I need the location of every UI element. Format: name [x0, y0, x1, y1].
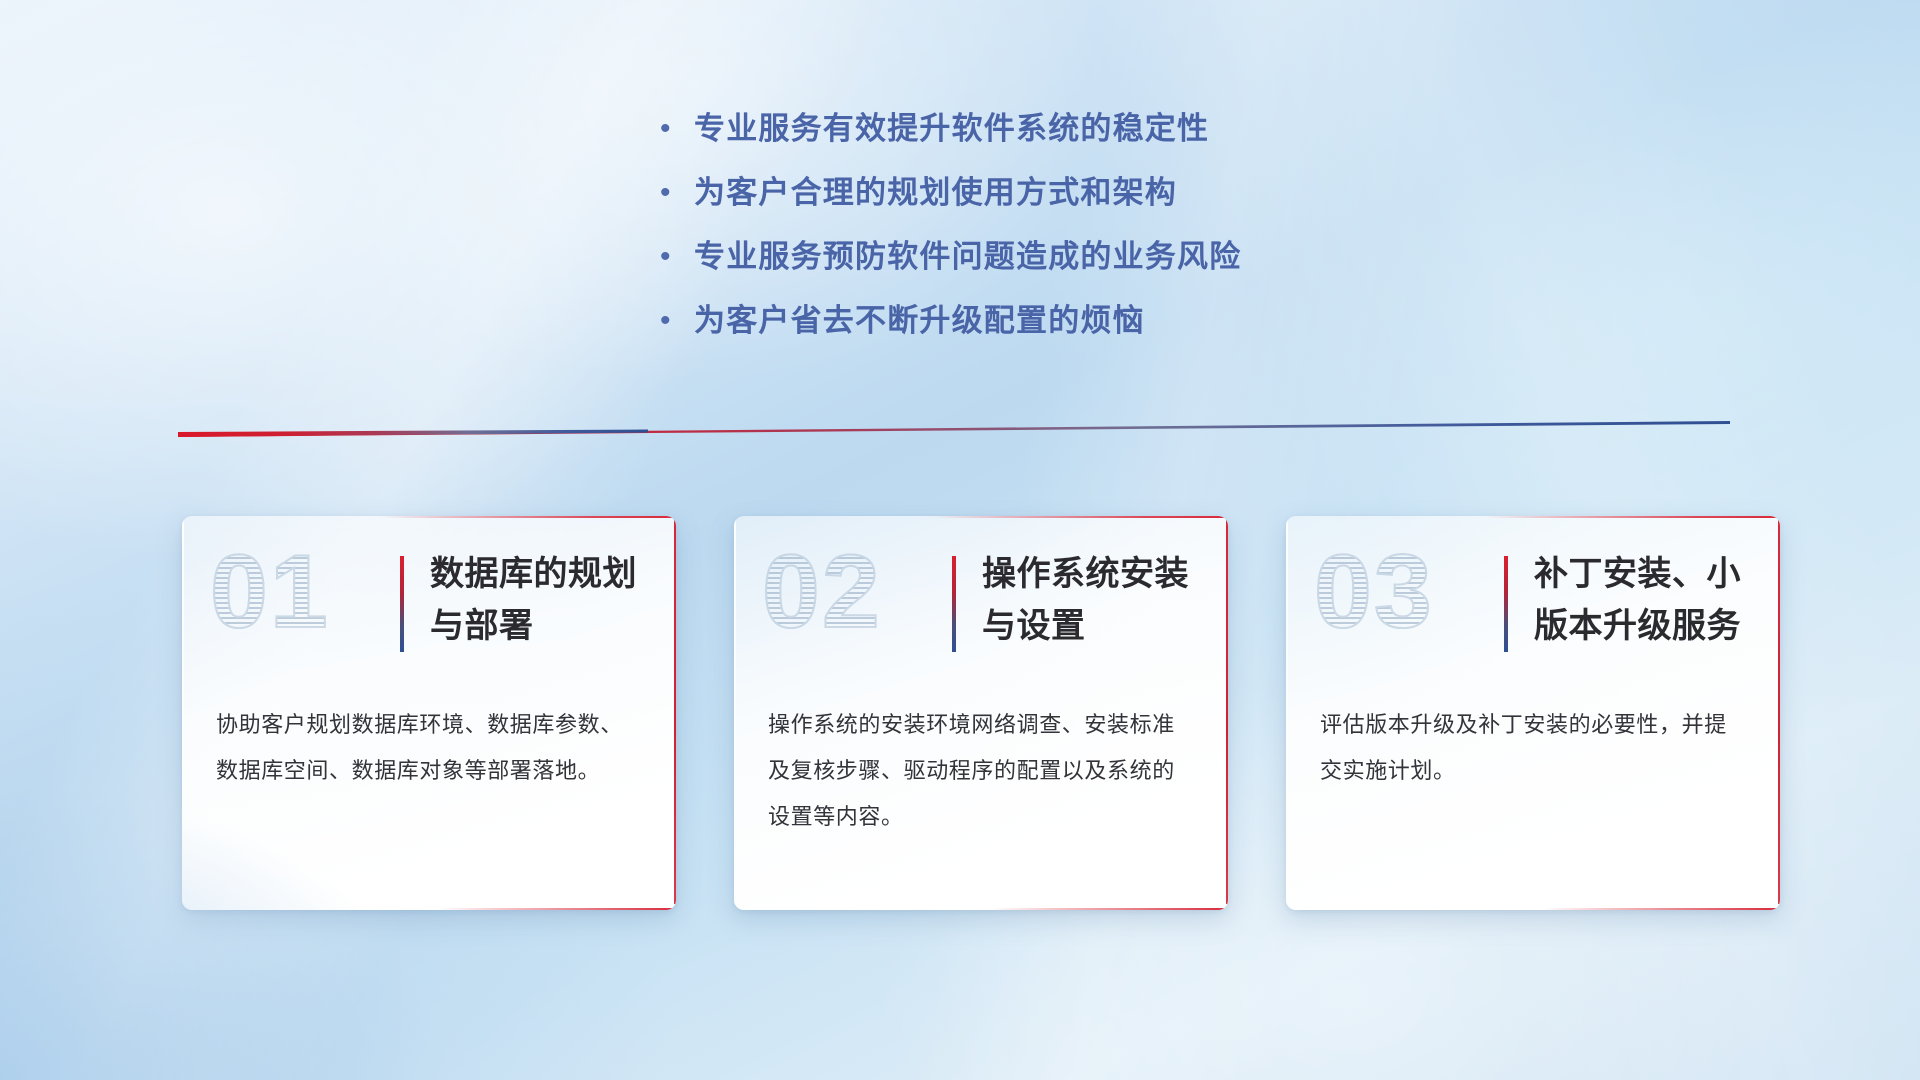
title-accent-bar — [400, 556, 404, 652]
bullet-marker-icon: • — [660, 108, 694, 150]
card-title: 补丁安装、小 版本升级服务 — [1534, 548, 1741, 652]
title-accent-bar — [952, 556, 956, 652]
card-description: 操作系统的安装环境网络调查、安装标准及复核步骤、驱动程序的配置以及系统的设置等内… — [768, 702, 1194, 840]
bullet-marker-icon: • — [660, 172, 694, 214]
card-header: 数据库的规划 与部署 — [400, 548, 637, 652]
card-title: 数据库的规划 与部署 — [430, 548, 637, 652]
slide-canvas: • 专业服务有效提升软件系统的稳定性 • 为客户合理的规划使用方式和架构 • 专… — [0, 0, 1920, 1080]
bullet-text: 为客户省去不断升级配置的烦恼 — [694, 300, 1145, 342]
bullet-text: 专业服务预防软件问题造成的业务风险 — [694, 236, 1241, 278]
card-header: 补丁安装、小 版本升级服务 — [1504, 548, 1741, 652]
service-card-03[interactable]: 03 补丁安装、小 版本升级服务 评估版本升级及补丁安装的必要性，并提交实施计划… — [1286, 516, 1780, 910]
bullet-item: • 为客户合理的规划使用方式和架构 — [660, 172, 1640, 236]
bullet-item: • 专业服务有效提升软件系统的稳定性 — [660, 108, 1640, 172]
bullet-marker-icon: • — [660, 300, 694, 342]
bullet-item: • 为客户省去不断升级配置的烦恼 — [660, 300, 1640, 364]
bullet-item: • 专业服务预防软件问题造成的业务风险 — [660, 236, 1640, 300]
bullet-text: 专业服务有效提升软件系统的稳定性 — [694, 108, 1209, 150]
card-description: 评估版本升级及补丁安装的必要性，并提交实施计划。 — [1320, 702, 1746, 794]
benefits-bullet-list: • 专业服务有效提升软件系统的稳定性 • 为客户合理的规划使用方式和架构 • 专… — [660, 108, 1640, 364]
service-card-01[interactable]: 01 数据库的规划 与部署 协助客户规划数据库环境、数据库参数、数据库空间、数据… — [182, 516, 676, 910]
card-number-watermark: 02 — [762, 532, 952, 652]
card-number-watermark: 03 — [1314, 532, 1504, 652]
bullet-marker-icon: • — [660, 236, 694, 278]
section-divider — [178, 420, 1730, 438]
card-title: 操作系统安装 与设置 — [982, 548, 1189, 652]
divider-wedge-shape — [178, 420, 1730, 438]
title-accent-bar — [1504, 556, 1508, 652]
card-number-watermark: 01 — [210, 532, 400, 652]
card-description: 协助客户规划数据库环境、数据库参数、数据库空间、数据库对象等部署落地。 — [216, 702, 642, 794]
bullet-text: 为客户合理的规划使用方式和架构 — [694, 172, 1177, 214]
service-card-02[interactable]: 02 操作系统安装 与设置 操作系统的安装环境网络调查、安装标准及复核步骤、驱动… — [734, 516, 1228, 910]
service-card-row: 01 数据库的规划 与部署 协助客户规划数据库环境、数据库参数、数据库空间、数据… — [182, 516, 1782, 910]
card-header: 操作系统安装 与设置 — [952, 548, 1189, 652]
